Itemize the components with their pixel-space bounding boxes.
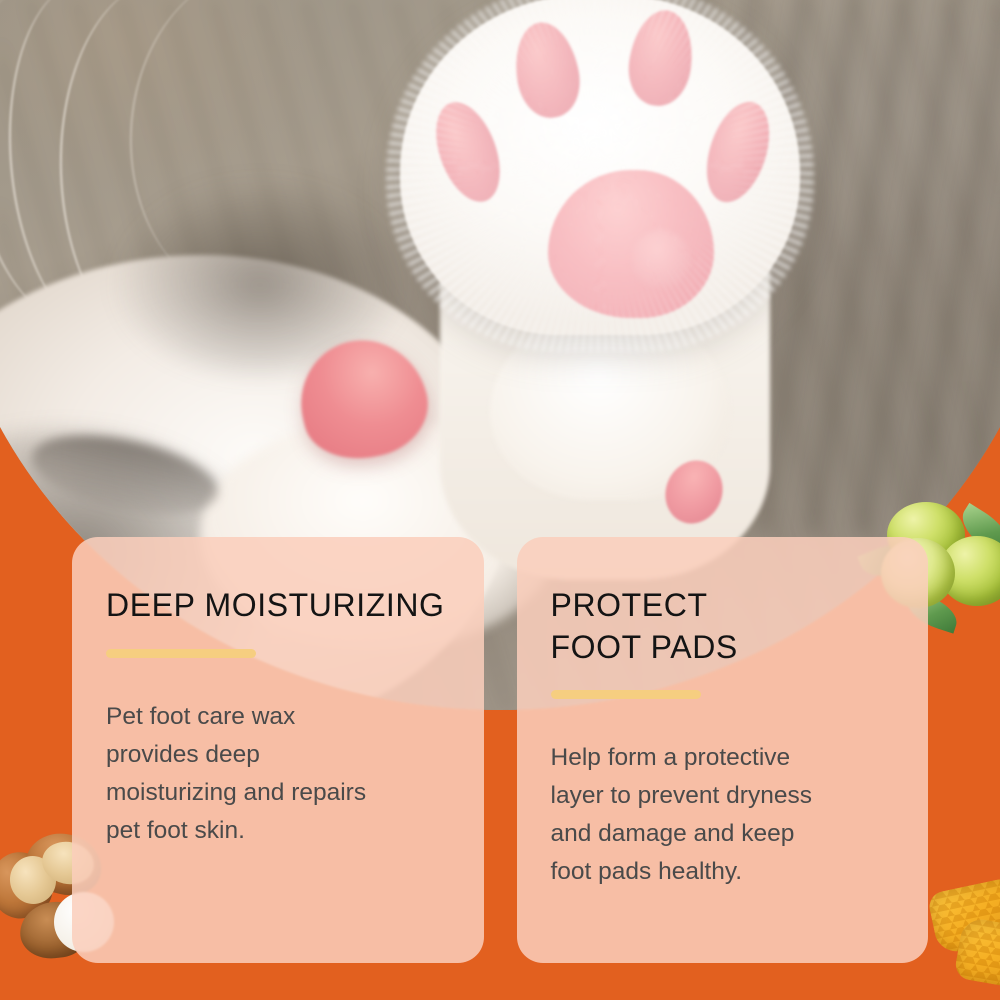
cat-paw	[400, 0, 820, 530]
feature-card-protect-foot-pads: PROTECT FOOT PADS Help form a protective…	[517, 537, 929, 963]
card-body: Help form a protective layer to prevent …	[551, 739, 895, 891]
product-feature-banner: DEEP MOISTURIZING Pet foot care wax prov…	[0, 0, 1000, 1000]
paw-fur-texture	[386, 0, 814, 352]
honeycomb-icon	[932, 872, 1000, 1000]
card-divider	[106, 649, 256, 658]
card-title: PROTECT FOOT PADS	[551, 585, 895, 668]
card-divider	[551, 690, 701, 699]
feature-card-list: DEEP MOISTURIZING Pet foot care wax prov…	[72, 537, 928, 963]
feature-card-deep-moisturizing: DEEP MOISTURIZING Pet foot care wax prov…	[72, 537, 484, 963]
card-body: Pet foot care wax provides deep moisturi…	[106, 698, 450, 850]
card-title: DEEP MOISTURIZING	[106, 585, 450, 627]
